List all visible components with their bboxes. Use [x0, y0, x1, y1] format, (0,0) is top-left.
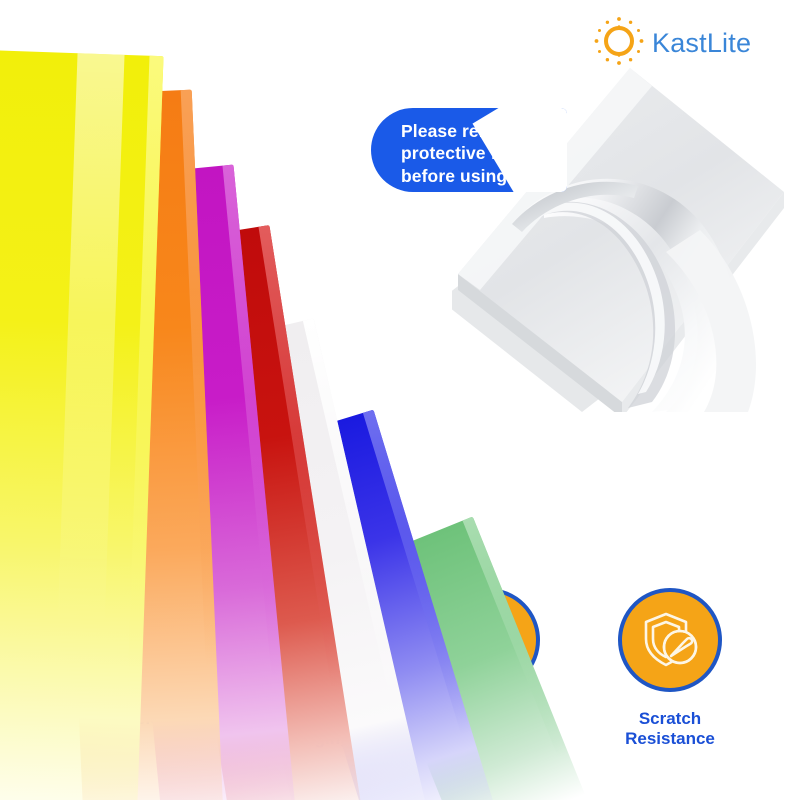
feature-scratch-resistance[interactable]: Scratch Resistance [595, 588, 745, 749]
feature-badge [618, 588, 722, 692]
feature-label: Scratch Resistance [625, 709, 715, 749]
acrylic-sheet-yellow [0, 49, 164, 800]
brand-logo: KastLite [592, 14, 751, 73]
shield-blade-icon [635, 605, 705, 675]
sun-icon [592, 14, 646, 73]
product-marketing-image: Please remove the protective film before… [0, 0, 800, 800]
brand-name: KastLite [652, 28, 751, 59]
remove-film-callout: Please remove the protective film before… [371, 108, 567, 192]
